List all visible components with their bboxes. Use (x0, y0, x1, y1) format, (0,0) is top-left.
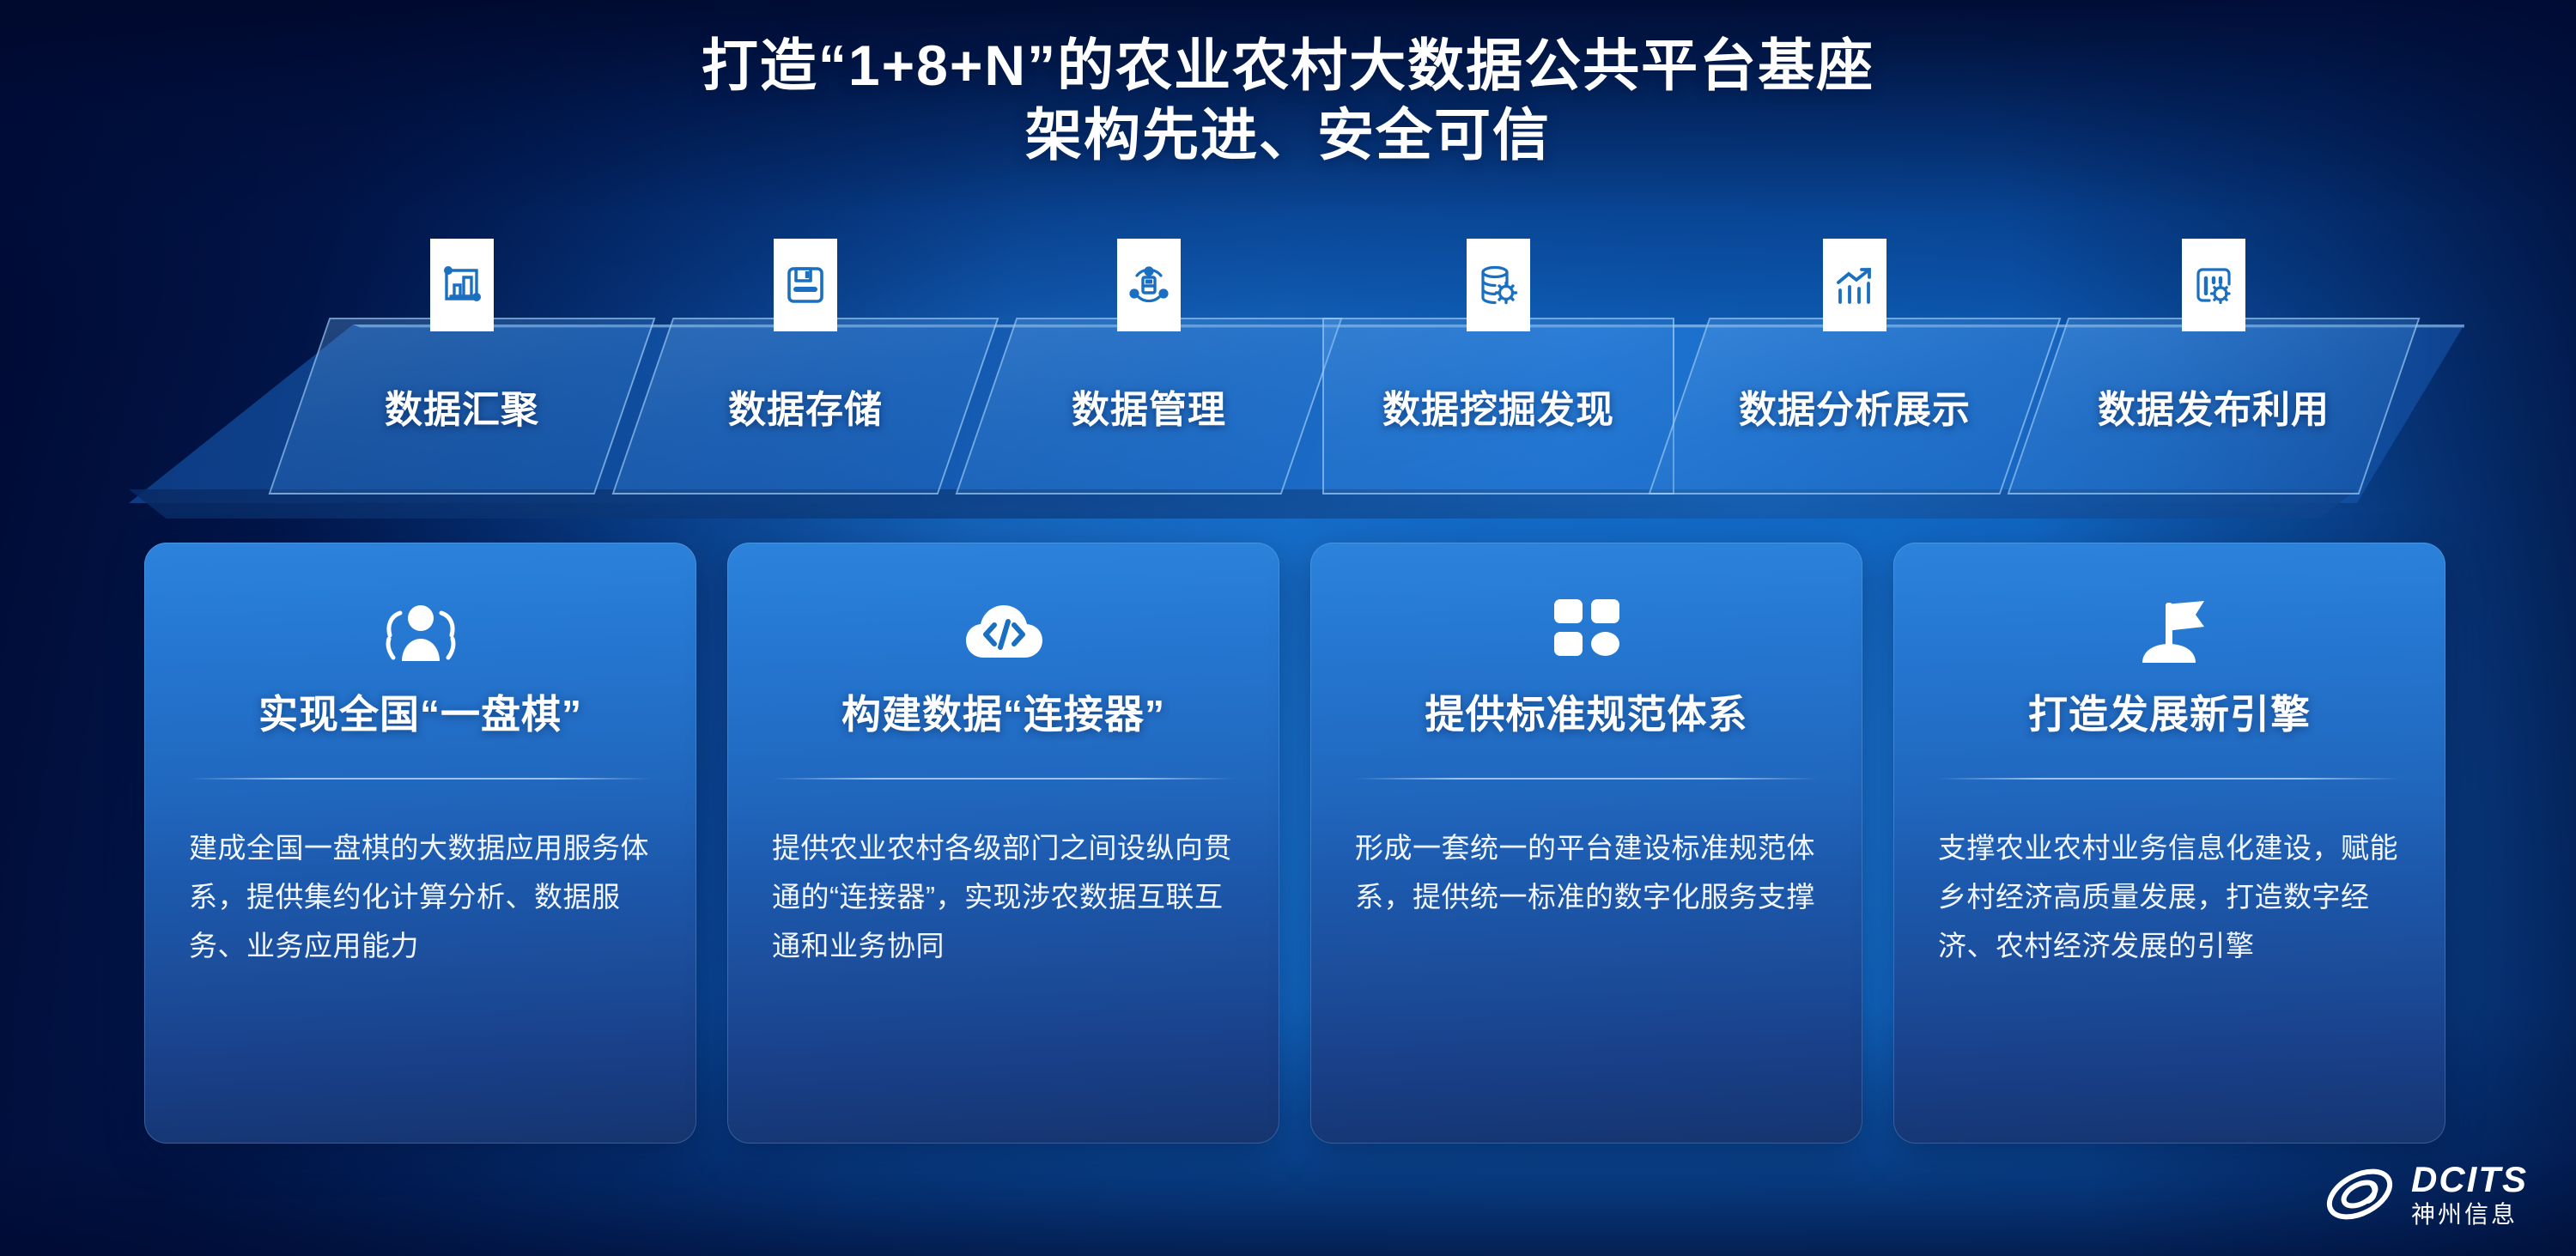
card-body: 建成全国一盘棋的大数据应用服务体系，提供集约化计算分析、数据服务、业务应用能力 (189, 824, 652, 970)
card-data-connector[interactable]: 构建数据“连接器” 提供农业农村各级部门之间设纵向贯通的“连接器”，实现涉农数据… (727, 543, 1279, 1144)
benefit-cards: 实现全国“一盘棋” 建成全国一盘棋的大数据应用服务体系，提供集约化计算分析、数据… (144, 543, 2445, 1144)
flag-icon (1938, 592, 2401, 671)
logo-name-en: DCITS (2411, 1162, 2528, 1198)
title-line-1: 打造“1+8+N”的农业农村大数据公共平台基座 (0, 31, 2576, 100)
bar-chart-circuit-icon (430, 239, 494, 331)
card-divider (189, 778, 652, 780)
users-group-icon (189, 592, 652, 671)
stage-label: 数据存储 (728, 379, 883, 434)
cloud-code-icon (772, 592, 1235, 671)
stage-label: 数据发布利用 (2098, 379, 2330, 434)
card-title: 提供标准规范体系 (1355, 683, 1818, 740)
card-body: 支撑农业农村业务信息化建设，赋能乡村经济高质量发展，打造数字经济、农村经济发展的… (1938, 824, 2401, 970)
card-divider (1938, 778, 2401, 780)
slide-title: 打造“1+8+N”的农业农村大数据公共平台基座 架构先进、安全可信 (0, 31, 2576, 169)
title-line-2: 架构先进、安全可信 (0, 100, 2576, 170)
dashboard-gear-icon (2182, 239, 2245, 331)
card-body: 提供农业农村各级部门之间设纵向贯通的“连接器”，实现涉农数据互联互通和业务协同 (772, 824, 1235, 970)
grid-blocks-icon (1355, 592, 1818, 671)
database-nodes-icon (1117, 239, 1181, 331)
card-body: 形成一套统一的平台建设标准规范体系，提供统一标准的数字化服务支撑 (1355, 824, 1818, 922)
stage-label: 数据分析展示 (1739, 379, 1971, 434)
pipeline-stage-data-analysis[interactable]: 数据分析展示 (1679, 318, 2031, 495)
pipeline-stage-data-publishing[interactable]: 数据发布利用 (2038, 318, 2390, 495)
stage-label: 数据挖掘发现 (1382, 379, 1614, 434)
card-divider (1355, 778, 1818, 780)
floppy-disk-icon (774, 239, 837, 331)
database-gear-icon (1467, 239, 1530, 331)
stage-label: 数据汇聚 (385, 379, 539, 434)
pipeline-stage-data-aggregation[interactable]: 数据汇聚 (299, 318, 625, 495)
card-title: 实现全国“一盘棋” (189, 683, 652, 740)
card-title: 打造发展新引擎 (1938, 683, 2401, 740)
trend-bars-icon (1823, 239, 1886, 331)
pipeline-stage-data-storage[interactable]: 数据存储 (642, 318, 969, 495)
card-growth-engine[interactable]: 打造发展新引擎 支撑农业农村业务信息化建设，赋能乡村经济高质量发展，打造数字经济… (1893, 543, 2445, 1144)
pipeline-stage-data-mining[interactable]: 数据挖掘发现 (1322, 318, 1674, 495)
company-logo: DCITS 神州信息 (2322, 1158, 2528, 1230)
data-pipeline-platform: 数据汇聚 数据存储 数据管理 (0, 318, 2576, 541)
card-national-unity[interactable]: 实现全国“一盘棋” 建成全国一盘棋的大数据应用服务体系，提供集约化计算分析、数据… (144, 543, 696, 1144)
logo-text: DCITS 神州信息 (2411, 1162, 2528, 1227)
card-standards-system[interactable]: 提供标准规范体系 形成一套统一的平台建设标准规范体系，提供统一标准的数字化服务支… (1310, 543, 1862, 1144)
dcits-swirl-icon (2322, 1158, 2397, 1230)
pipeline-stage-data-management[interactable]: 数据管理 (986, 318, 1312, 495)
card-divider (772, 778, 1235, 780)
logo-name-cn: 神州信息 (2411, 1203, 2528, 1227)
card-title: 构建数据“连接器” (772, 683, 1235, 740)
stage-label: 数据管理 (1072, 379, 1226, 434)
